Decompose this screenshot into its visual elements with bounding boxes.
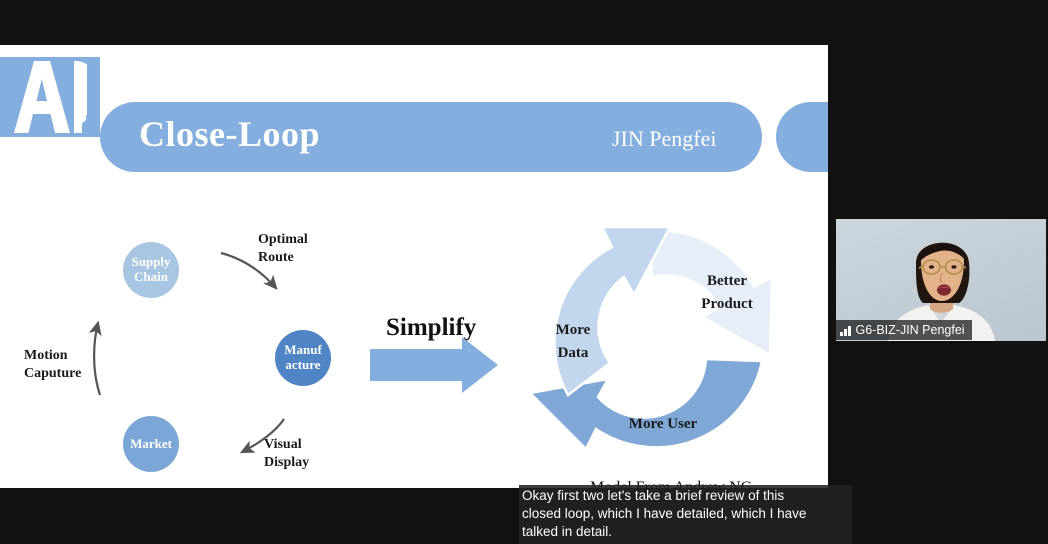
label-motion-capture-line2: Caputure [24,365,81,383]
shared-slide[interactable]: Close-Loop JIN Pengfei Supply Chain Manu… [0,45,828,488]
label-motion-capture: Motion Caputure [24,347,81,384]
meeting-stage: Close-Loop JIN Pengfei Supply Chain Manu… [0,0,1048,542]
label-more-user: More User [611,413,715,436]
header-band-accent [776,102,828,172]
node-manufacture-line1: Manuf [284,343,322,358]
label-more-data-line2: Data [540,342,606,365]
caption-line-2: closed loop, which I have detailed, whic… [522,505,850,523]
caption-line-3: talked in detail. [522,523,850,541]
label-better-product-line2: Product [683,293,771,316]
node-market-line1: Market [130,437,172,452]
label-more-data: More Data [540,319,606,364]
label-better-product-line1: Better [683,270,771,293]
live-caption: Okay first two let's take a brief review… [519,485,852,544]
label-more-data-line1: More [540,319,606,342]
node-manufacture: Manuf acture [275,330,331,386]
label-optimal-route-line2: Route [258,249,308,267]
label-visual-display-line1: Visual [264,436,309,454]
caption-line-1: Okay first two let's take a brief review… [522,487,850,505]
node-supply-chain-line2: Chain [131,270,170,285]
simplify-arrow-icon [370,337,500,393]
label-motion-capture-line1: Motion [24,347,81,365]
motion-capture-arrow-icon [84,313,114,399]
label-optimal-route: Optimal Route [258,231,308,268]
label-visual-display-line2: Display [264,454,309,472]
node-supply-chain-line1: Supply [131,255,170,270]
label-visual-display: Visual Display [264,436,309,473]
label-better-product: Better Product [683,270,771,315]
participant-name-badge: G6-BIZ-JIN Pengfei [836,320,972,340]
ai-logo [0,57,100,137]
node-manufacture-line2: acture [284,358,322,373]
slide-title: Close-Loop [139,113,320,155]
label-optimal-route-line1: Optimal [258,231,308,249]
node-supply-chain: Supply Chain [123,242,179,298]
slide-author: JIN Pengfei [612,126,716,152]
participant-name: G6-BIZ-JIN Pengfei [856,323,965,337]
node-market: Market [123,416,179,472]
signal-bars-icon [840,325,851,336]
